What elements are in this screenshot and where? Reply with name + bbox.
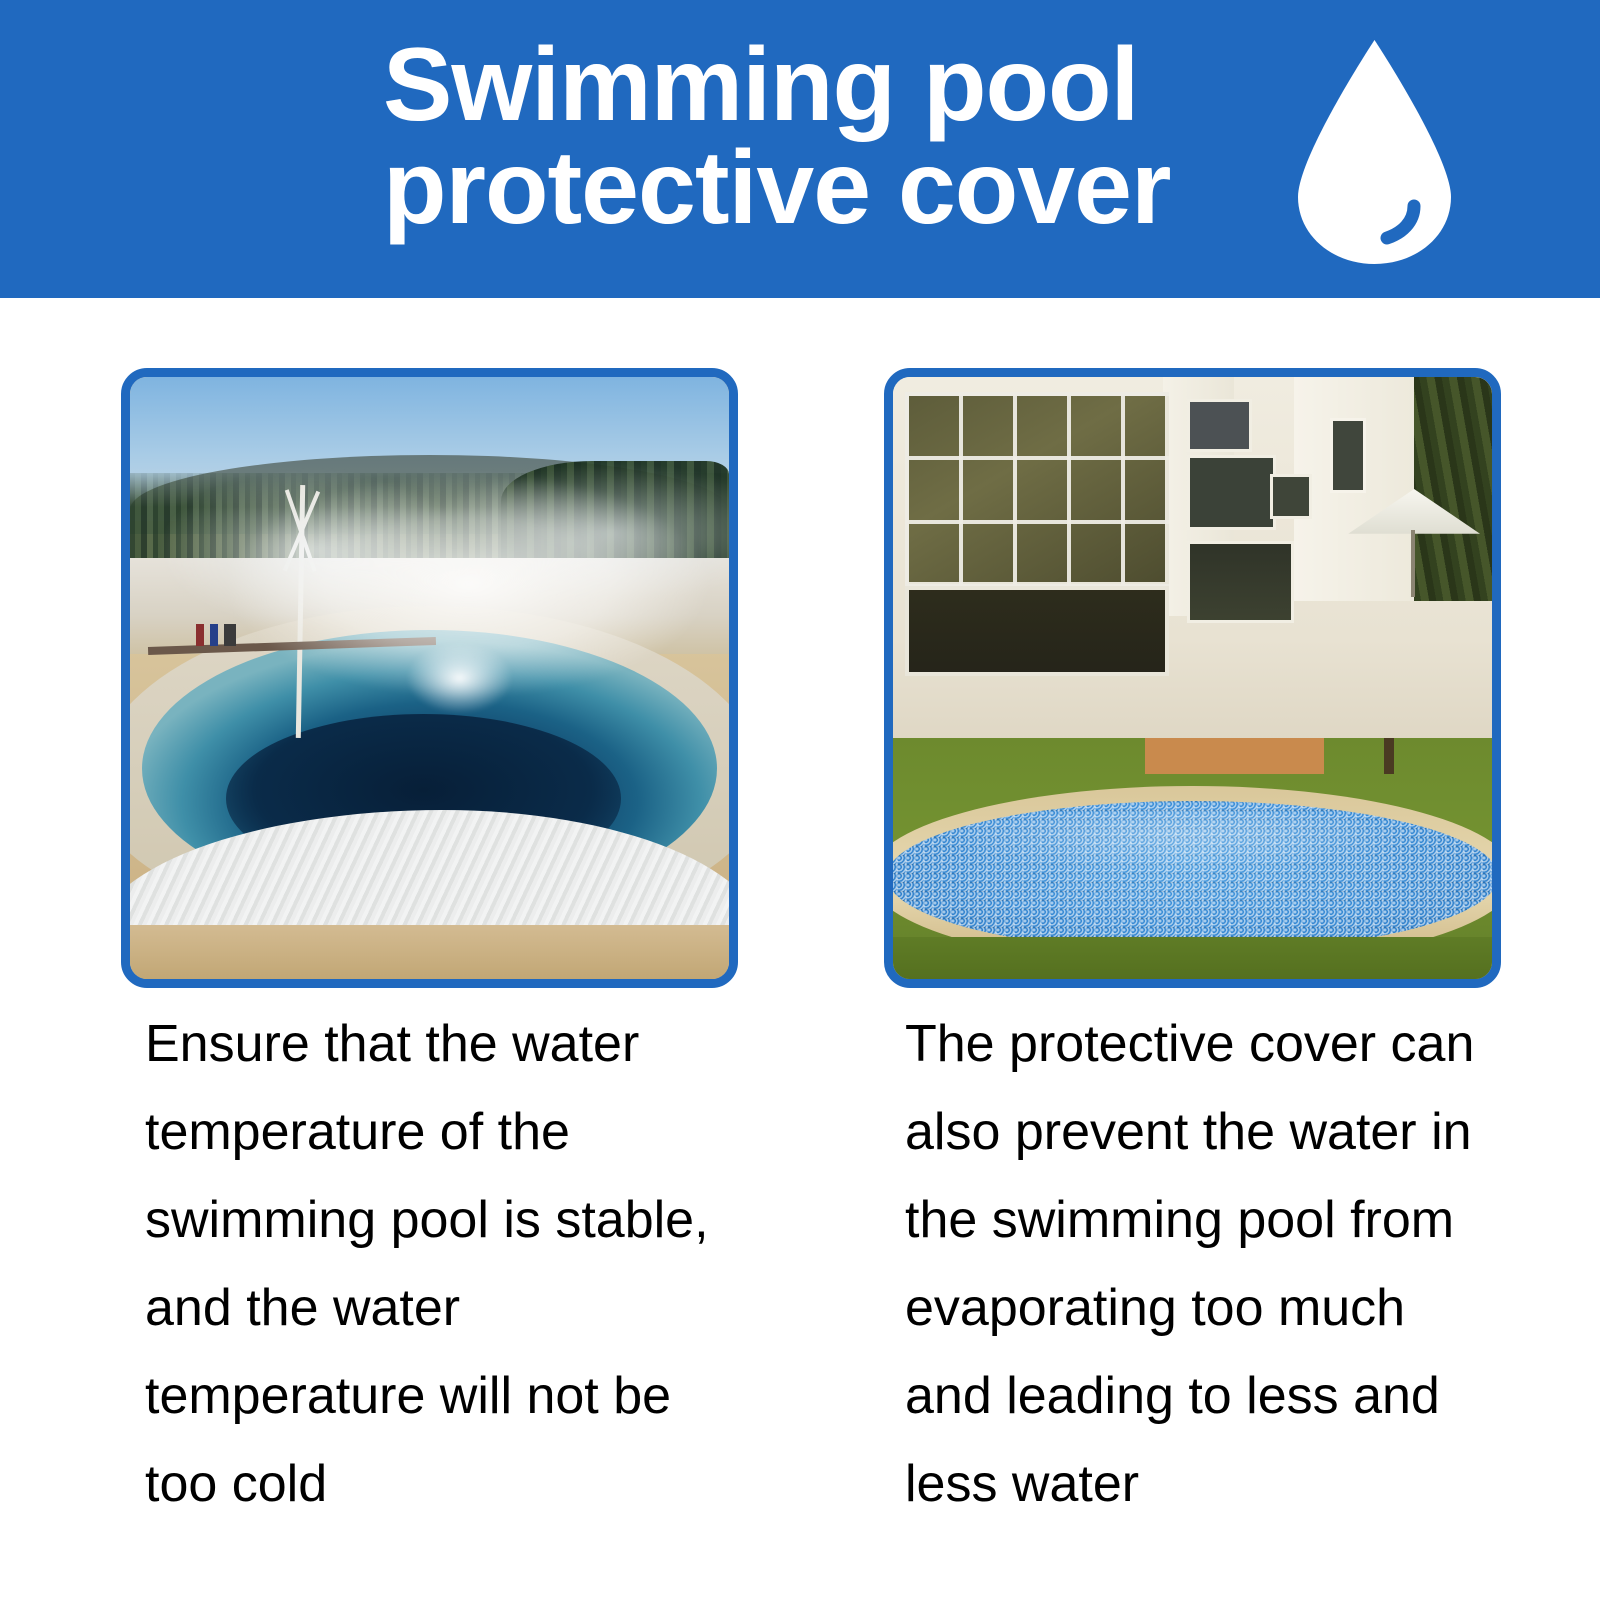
lower-glass-wall [905,586,1169,676]
infographic-page: Swimming pool protective cover [0,0,1600,1600]
horizontal-mullions [905,392,1169,586]
page-title: Swimming pool protective cover [383,34,1223,240]
window-upper-mid [1187,455,1277,530]
umbrella-pole [1411,530,1415,597]
caption-right: The protective cover can also prevent th… [905,1000,1505,1528]
steam-plume [406,642,514,714]
house-facade [893,377,1492,750]
patio-door [1187,541,1295,623]
cover-sheen [941,810,1420,870]
window-small [1270,474,1312,519]
sand-foreground [130,925,729,979]
window-upper-left [1187,399,1253,451]
header-banner: Swimming pool protective cover [0,0,1600,298]
hot-spring-photo [130,377,729,979]
caption-left: Ensure that the water temperature of the… [145,1000,745,1528]
water-drop-icon [1292,38,1457,266]
house-pool-photo [893,377,1492,979]
image-card-right [884,368,1501,988]
tree-trunk [1384,738,1394,774]
glass-curtain-wall [905,392,1169,586]
foliage [1414,377,1492,601]
window-right-tall [1330,418,1366,493]
image-card-left [121,368,738,988]
foreground-grass [893,937,1492,979]
patio-paving [1145,738,1325,774]
